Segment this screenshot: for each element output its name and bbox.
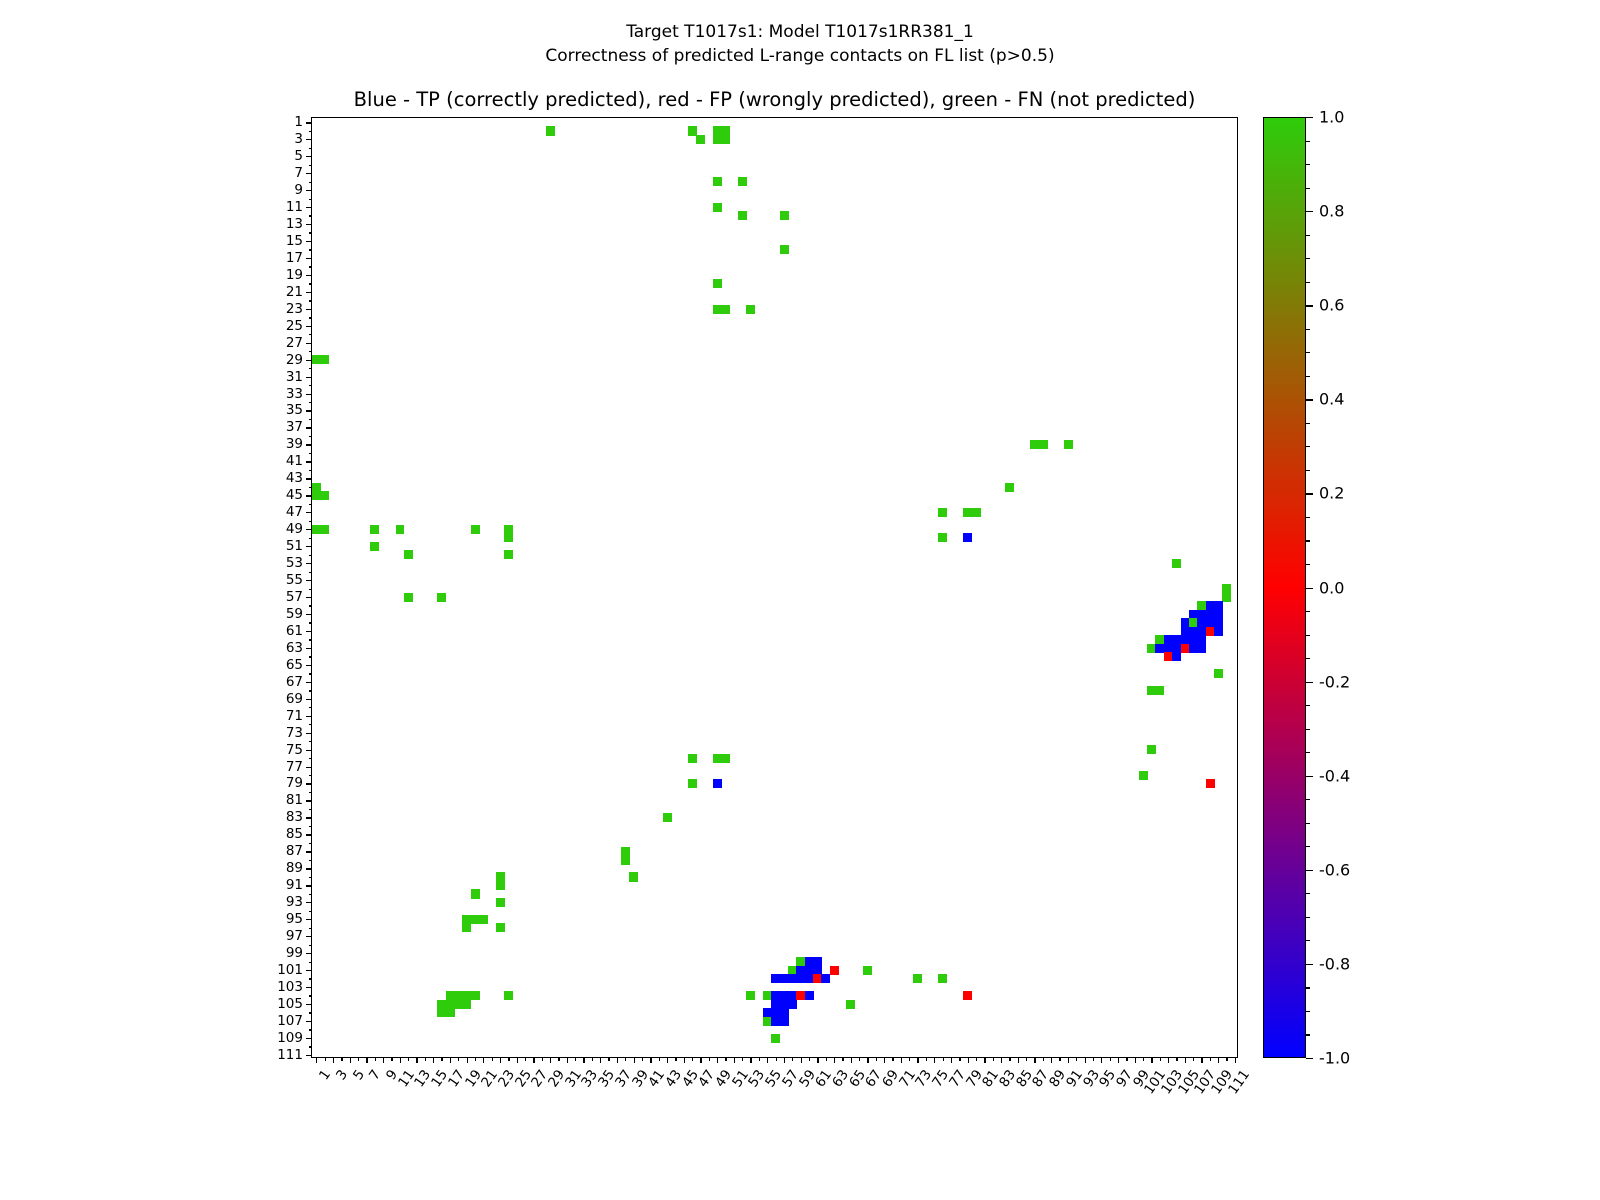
x-tick-mark bbox=[734, 1057, 735, 1063]
y-tick-mark bbox=[309, 266, 313, 267]
y-tick-mark bbox=[309, 436, 313, 437]
y-tick-mark bbox=[306, 919, 312, 920]
x-tick-mark bbox=[709, 1057, 710, 1061]
x-tick-mark bbox=[1051, 1057, 1052, 1063]
x-tick-mark bbox=[759, 1057, 760, 1061]
x-tick-label: 5 bbox=[350, 1067, 368, 1083]
x-tick-mark bbox=[391, 1057, 392, 1061]
x-tick-mark bbox=[550, 1057, 551, 1063]
contact-cell bbox=[471, 991, 480, 1000]
y-tick-mark bbox=[309, 995, 313, 996]
x-tick-mark bbox=[408, 1057, 409, 1061]
contact-cell bbox=[479, 915, 488, 924]
colorbar-tick-mark bbox=[1306, 870, 1313, 871]
y-tick-mark bbox=[306, 648, 312, 649]
contact-cell bbox=[1039, 440, 1048, 449]
colorbar-minor-tick-mark bbox=[1306, 258, 1310, 259]
x-tick-mark bbox=[959, 1057, 960, 1061]
y-tick-mark bbox=[306, 716, 312, 717]
y-tick-mark bbox=[309, 656, 313, 657]
x-tick-mark bbox=[625, 1057, 626, 1061]
y-tick-mark bbox=[309, 131, 313, 132]
y-tick-mark bbox=[306, 936, 312, 937]
y-tick-label: 5 bbox=[294, 148, 303, 164]
y-tick-label: 101 bbox=[277, 962, 303, 978]
contact-cell bbox=[713, 177, 722, 186]
x-tick-mark bbox=[943, 1057, 944, 1061]
x-tick-mark bbox=[634, 1057, 635, 1063]
contact-cell bbox=[1172, 559, 1181, 568]
y-tick-label: 79 bbox=[286, 775, 303, 791]
x-tick-mark bbox=[517, 1057, 518, 1063]
y-tick-mark bbox=[306, 292, 312, 293]
x-tick-mark bbox=[1076, 1057, 1077, 1061]
y-tick-mark bbox=[306, 478, 312, 479]
contact-cell bbox=[663, 813, 672, 822]
contact-cell bbox=[821, 974, 830, 983]
y-tick-label: 67 bbox=[286, 674, 303, 690]
colorbar-minor-tick-mark bbox=[1306, 917, 1310, 918]
contact-cell bbox=[471, 889, 480, 898]
x-tick-mark bbox=[1193, 1057, 1194, 1061]
contact-cell bbox=[320, 525, 329, 534]
x-tick-label: 1 bbox=[316, 1067, 334, 1083]
x-tick-mark bbox=[926, 1057, 927, 1061]
x-tick-mark bbox=[1218, 1057, 1219, 1063]
x-tick-mark bbox=[542, 1057, 543, 1061]
x-tick-mark bbox=[968, 1057, 969, 1063]
colorbar-minor-tick-mark bbox=[1306, 235, 1310, 236]
colorbar[interactable]: 1.00.80.60.40.20.0-0.2-0.4-0.6-0.8-1.0 bbox=[1263, 117, 1306, 1058]
x-tick-mark bbox=[659, 1057, 660, 1061]
contact-cell bbox=[721, 135, 730, 144]
y-tick-mark bbox=[306, 1021, 312, 1022]
x-tick-mark bbox=[851, 1057, 852, 1063]
y-tick-mark bbox=[306, 326, 312, 327]
y-tick-label: 103 bbox=[277, 979, 303, 995]
x-tick-mark bbox=[650, 1057, 651, 1063]
y-tick-mark bbox=[306, 377, 312, 378]
y-tick-mark bbox=[309, 1029, 313, 1030]
y-tick-mark bbox=[306, 631, 312, 632]
x-tick-mark bbox=[742, 1057, 743, 1061]
y-tick-label: 33 bbox=[286, 386, 303, 402]
y-tick-label: 25 bbox=[286, 318, 303, 334]
colorbar-minor-tick-mark bbox=[1306, 1011, 1310, 1012]
colorbar-minor-tick-mark bbox=[1306, 188, 1310, 189]
contact-cell bbox=[496, 923, 505, 932]
colorbar-minor-tick-mark bbox=[1306, 893, 1310, 894]
contact-cell bbox=[504, 533, 513, 542]
x-tick-mark bbox=[492, 1057, 493, 1061]
y-tick-mark bbox=[309, 809, 313, 810]
y-tick-mark bbox=[306, 987, 312, 988]
y-tick-mark bbox=[309, 962, 313, 963]
x-tick-mark bbox=[1135, 1057, 1136, 1063]
x-tick-mark bbox=[600, 1057, 601, 1063]
y-tick-mark bbox=[306, 953, 312, 954]
x-tick-mark bbox=[375, 1057, 376, 1061]
y-tick-mark bbox=[306, 173, 312, 174]
y-tick-mark bbox=[306, 258, 312, 259]
y-tick-mark bbox=[306, 1004, 312, 1005]
y-tick-label: 57 bbox=[286, 589, 303, 605]
x-tick-mark bbox=[1001, 1057, 1002, 1063]
contact-cell bbox=[972, 508, 981, 517]
y-tick-label: 17 bbox=[286, 250, 303, 266]
x-tick-mark bbox=[341, 1057, 342, 1061]
x-tick-mark bbox=[333, 1057, 334, 1063]
colorbar-minor-tick-mark bbox=[1306, 799, 1310, 800]
x-tick-mark bbox=[1210, 1057, 1211, 1061]
y-tick-mark bbox=[309, 622, 313, 623]
x-tick-mark bbox=[692, 1057, 693, 1061]
contact-cell bbox=[963, 533, 972, 542]
y-tick-mark bbox=[306, 139, 312, 140]
y-tick-label: 29 bbox=[286, 352, 303, 368]
colorbar-minor-tick-mark bbox=[1306, 1034, 1310, 1035]
colorbar-minor-tick-mark bbox=[1306, 705, 1310, 706]
y-tick-mark bbox=[306, 394, 312, 395]
y-tick-label: 21 bbox=[286, 284, 303, 300]
x-tick-mark bbox=[1009, 1057, 1010, 1061]
colorbar-minor-tick-mark bbox=[1306, 987, 1310, 988]
y-tick-mark bbox=[306, 597, 312, 598]
contact-cell bbox=[1147, 745, 1156, 754]
contact-cell bbox=[629, 872, 638, 881]
y-tick-mark bbox=[309, 639, 313, 640]
y-tick-label: 51 bbox=[286, 538, 303, 554]
colorbar-tick-label: -1.0 bbox=[1319, 1049, 1350, 1068]
contact-map-plot-area[interactable]: 1357911131517192123252729313335373941434… bbox=[311, 117, 1238, 1058]
contact-cell bbox=[688, 779, 697, 788]
y-tick-label: 69 bbox=[286, 691, 303, 707]
x-tick-mark bbox=[617, 1057, 618, 1063]
x-tick-mark bbox=[951, 1057, 952, 1063]
contact-cell bbox=[788, 1000, 797, 1009]
colorbar-tick-label: 0.2 bbox=[1319, 484, 1344, 503]
y-tick-mark bbox=[309, 589, 313, 590]
contact-cell bbox=[446, 1008, 455, 1017]
y-tick-mark bbox=[306, 427, 312, 428]
y-tick-mark bbox=[306, 360, 312, 361]
x-tick-mark bbox=[433, 1057, 434, 1063]
y-tick-mark bbox=[306, 800, 312, 801]
contact-cell bbox=[1005, 483, 1014, 492]
y-tick-mark bbox=[309, 911, 313, 912]
contact-cell bbox=[1197, 644, 1206, 653]
y-tick-mark bbox=[306, 1055, 312, 1056]
x-tick-mark bbox=[684, 1057, 685, 1063]
colorbar-minor-tick-mark bbox=[1306, 658, 1310, 659]
y-tick-mark bbox=[309, 826, 313, 827]
colorbar-gradient bbox=[1263, 117, 1306, 1058]
y-tick-mark bbox=[306, 190, 312, 191]
y-tick-mark bbox=[309, 538, 313, 539]
colorbar-tick-mark bbox=[1306, 211, 1313, 212]
y-tick-label: 39 bbox=[286, 436, 303, 452]
contact-cell bbox=[320, 491, 329, 500]
x-tick-mark bbox=[1059, 1057, 1060, 1061]
y-tick-label: 99 bbox=[286, 945, 303, 961]
y-tick-mark bbox=[309, 182, 313, 183]
colorbar-minor-tick-mark bbox=[1306, 352, 1310, 353]
y-tick-label: 15 bbox=[286, 233, 303, 249]
y-tick-mark bbox=[309, 165, 313, 166]
x-tick-mark bbox=[1093, 1057, 1094, 1061]
colorbar-tick-mark bbox=[1306, 776, 1313, 777]
y-tick-label: 37 bbox=[286, 419, 303, 435]
x-tick-mark bbox=[667, 1057, 668, 1063]
x-tick-mark bbox=[834, 1057, 835, 1063]
y-tick-label: 91 bbox=[286, 877, 303, 893]
y-tick-mark bbox=[306, 156, 312, 157]
x-tick-mark bbox=[1043, 1057, 1044, 1061]
y-tick-mark bbox=[306, 750, 312, 751]
y-tick-mark bbox=[309, 792, 313, 793]
y-tick-mark bbox=[306, 207, 312, 208]
y-tick-mark bbox=[309, 283, 313, 284]
y-tick-mark bbox=[309, 215, 313, 216]
contact-cell bbox=[746, 305, 755, 314]
x-tick-mark bbox=[467, 1057, 468, 1063]
y-tick-mark bbox=[306, 665, 312, 666]
contact-cell bbox=[746, 991, 755, 1000]
colorbar-minor-tick-mark bbox=[1306, 846, 1310, 847]
y-tick-label: 89 bbox=[286, 860, 303, 876]
x-tick-mark bbox=[934, 1057, 935, 1063]
x-tick-mark bbox=[892, 1057, 893, 1061]
colorbar-minor-tick-mark bbox=[1306, 470, 1310, 471]
x-tick-mark bbox=[1126, 1057, 1127, 1061]
x-tick-mark bbox=[984, 1057, 985, 1063]
y-tick-mark bbox=[309, 1012, 313, 1013]
colorbar-tick-label: -0.2 bbox=[1319, 672, 1350, 691]
y-tick-mark bbox=[306, 733, 312, 734]
x-tick-mark bbox=[750, 1057, 751, 1063]
y-tick-mark bbox=[306, 970, 312, 971]
y-tick-label: 87 bbox=[286, 843, 303, 859]
colorbar-minor-tick-mark bbox=[1306, 823, 1310, 824]
y-tick-label: 55 bbox=[286, 572, 303, 588]
contact-map-cells bbox=[312, 118, 1237, 1057]
y-tick-label: 81 bbox=[286, 792, 303, 808]
x-tick-mark bbox=[508, 1057, 509, 1061]
contact-cell bbox=[462, 1000, 471, 1009]
x-tick-mark bbox=[425, 1057, 426, 1061]
x-tick-mark bbox=[325, 1057, 326, 1061]
y-tick-mark bbox=[309, 249, 313, 250]
x-tick-mark bbox=[917, 1057, 918, 1063]
contact-cell bbox=[938, 533, 947, 542]
x-tick-mark bbox=[792, 1057, 793, 1061]
y-tick-mark bbox=[309, 673, 313, 674]
contact-cell bbox=[496, 898, 505, 907]
contact-cell bbox=[771, 1034, 780, 1043]
colorbar-tick-label: -0.8 bbox=[1319, 954, 1350, 973]
x-tick-mark bbox=[884, 1057, 885, 1063]
contact-cell bbox=[713, 279, 722, 288]
contact-map-figure: Target T1017s1: Model T1017s1RR381_1 Cor… bbox=[0, 0, 1600, 1200]
x-tick-mark bbox=[500, 1057, 501, 1063]
y-tick-label: 61 bbox=[286, 623, 303, 639]
y-tick-label: 11 bbox=[286, 199, 303, 215]
x-tick-mark bbox=[350, 1057, 351, 1063]
y-tick-label: 23 bbox=[286, 301, 303, 317]
y-tick-mark bbox=[309, 877, 313, 878]
contact-cell bbox=[621, 856, 630, 865]
x-tick-mark bbox=[316, 1057, 317, 1063]
colorbar-tick-label: -0.4 bbox=[1319, 766, 1350, 785]
contact-cell bbox=[1214, 627, 1223, 636]
y-tick-mark bbox=[306, 563, 312, 564]
y-tick-label: 9 bbox=[294, 182, 303, 198]
y-tick-mark bbox=[309, 724, 313, 725]
y-tick-label: 27 bbox=[286, 335, 303, 351]
x-tick-mark bbox=[400, 1057, 401, 1063]
y-tick-label: 19 bbox=[286, 267, 303, 283]
colorbar-minor-tick-mark bbox=[1306, 423, 1310, 424]
y-tick-label: 85 bbox=[286, 826, 303, 842]
contact-cell bbox=[963, 991, 972, 1000]
x-tick-mark bbox=[366, 1057, 367, 1063]
y-tick-mark bbox=[306, 309, 312, 310]
y-tick-mark bbox=[309, 572, 313, 573]
contact-cell bbox=[721, 305, 730, 314]
y-tick-mark bbox=[306, 122, 312, 123]
contact-cell bbox=[938, 508, 947, 517]
y-tick-label: 73 bbox=[286, 725, 303, 741]
contact-cell bbox=[462, 923, 471, 932]
colorbar-tick-mark bbox=[1306, 964, 1313, 965]
x-tick-mark bbox=[1026, 1057, 1027, 1061]
y-tick-label: 75 bbox=[286, 742, 303, 758]
contact-cell bbox=[696, 135, 705, 144]
contact-cell bbox=[713, 779, 722, 788]
y-tick-mark bbox=[309, 334, 313, 335]
x-tick-mark bbox=[1143, 1057, 1144, 1061]
contact-cell bbox=[437, 593, 446, 602]
x-tick-mark bbox=[475, 1057, 476, 1061]
colorbar-minor-tick-mark bbox=[1306, 564, 1310, 565]
y-tick-mark bbox=[309, 605, 313, 606]
contact-cell bbox=[913, 974, 922, 983]
x-tick-mark bbox=[450, 1057, 451, 1063]
x-tick-mark bbox=[592, 1057, 593, 1061]
y-tick-mark bbox=[309, 843, 313, 844]
contact-cell bbox=[863, 966, 872, 975]
colorbar-minor-tick-mark bbox=[1306, 729, 1310, 730]
x-tick-mark bbox=[842, 1057, 843, 1061]
x-tick-mark bbox=[767, 1057, 768, 1063]
y-tick-label: 105 bbox=[277, 996, 303, 1012]
y-tick-mark bbox=[309, 368, 313, 369]
y-tick-mark bbox=[309, 978, 313, 979]
colorbar-tick-label: 0.0 bbox=[1319, 578, 1344, 597]
x-tick-mark bbox=[1101, 1057, 1102, 1063]
contact-cell bbox=[780, 211, 789, 220]
colorbar-tick-label: 1.0 bbox=[1319, 108, 1344, 127]
contact-cell bbox=[396, 525, 405, 534]
y-tick-mark bbox=[309, 504, 313, 505]
y-tick-mark bbox=[306, 902, 312, 903]
y-tick-label: 7 bbox=[294, 165, 303, 181]
y-tick-mark bbox=[306, 885, 312, 886]
x-tick-mark bbox=[1201, 1057, 1202, 1063]
y-tick-mark bbox=[309, 928, 313, 929]
colorbar-minor-tick-mark bbox=[1306, 940, 1310, 941]
colorbar-minor-tick-mark bbox=[1306, 329, 1310, 330]
y-tick-label: 47 bbox=[286, 504, 303, 520]
contact-cell bbox=[404, 593, 413, 602]
y-tick-mark bbox=[306, 241, 312, 242]
y-tick-mark bbox=[309, 775, 313, 776]
x-tick-mark bbox=[1068, 1057, 1069, 1063]
contact-cell bbox=[846, 1000, 855, 1009]
x-tick-mark bbox=[909, 1057, 910, 1061]
x-tick-mark bbox=[1176, 1057, 1177, 1061]
x-tick-label: 3 bbox=[333, 1067, 351, 1083]
x-tick-mark bbox=[483, 1057, 484, 1063]
x-tick-mark bbox=[876, 1057, 877, 1061]
y-tick-mark bbox=[306, 682, 312, 683]
contact-cell bbox=[504, 991, 513, 1000]
x-tick-mark bbox=[859, 1057, 860, 1061]
x-tick-mark bbox=[533, 1057, 534, 1063]
y-tick-label: 95 bbox=[286, 911, 303, 927]
x-tick-mark bbox=[1118, 1057, 1119, 1063]
y-tick-label: 13 bbox=[286, 216, 303, 232]
contact-cell bbox=[404, 550, 413, 559]
y-tick-mark bbox=[306, 868, 312, 869]
y-tick-mark bbox=[306, 495, 312, 496]
y-tick-mark bbox=[309, 385, 313, 386]
colorbar-minor-tick-mark bbox=[1306, 517, 1310, 518]
y-tick-label: 59 bbox=[286, 606, 303, 622]
y-tick-mark bbox=[306, 343, 312, 344]
y-tick-label: 111 bbox=[277, 1047, 303, 1063]
x-tick-mark bbox=[817, 1057, 818, 1063]
y-tick-mark bbox=[309, 555, 313, 556]
x-tick-mark bbox=[976, 1057, 977, 1061]
colorbar-minor-tick-mark bbox=[1306, 446, 1310, 447]
colorbar-minor-tick-mark bbox=[1306, 752, 1310, 753]
colorbar-tick-label: 0.6 bbox=[1319, 296, 1344, 315]
x-tick-mark bbox=[1226, 1057, 1227, 1061]
x-tick-mark bbox=[867, 1057, 868, 1063]
colorbar-tick-label: 0.8 bbox=[1319, 202, 1344, 221]
contact-cell bbox=[1206, 779, 1215, 788]
y-tick-label: 107 bbox=[277, 1013, 303, 1029]
y-tick-mark bbox=[306, 512, 312, 513]
x-tick-mark bbox=[826, 1057, 827, 1061]
y-tick-label: 97 bbox=[286, 928, 303, 944]
y-tick-label: 45 bbox=[286, 487, 303, 503]
y-tick-mark bbox=[306, 767, 312, 768]
x-tick-mark bbox=[1160, 1057, 1161, 1061]
y-tick-label: 31 bbox=[286, 369, 303, 385]
contact-cell bbox=[938, 974, 947, 983]
contact-cell bbox=[546, 126, 555, 135]
y-tick-mark bbox=[309, 199, 313, 200]
contact-cell bbox=[688, 754, 697, 763]
colorbar-tick-mark bbox=[1306, 1058, 1313, 1059]
y-tick-mark bbox=[309, 402, 313, 403]
y-tick-mark bbox=[306, 529, 312, 530]
y-tick-mark bbox=[309, 317, 313, 318]
figure-suptitle: Target T1017s1: Model T1017s1RR381_1 Cor… bbox=[0, 20, 1600, 68]
x-tick-mark bbox=[784, 1057, 785, 1063]
